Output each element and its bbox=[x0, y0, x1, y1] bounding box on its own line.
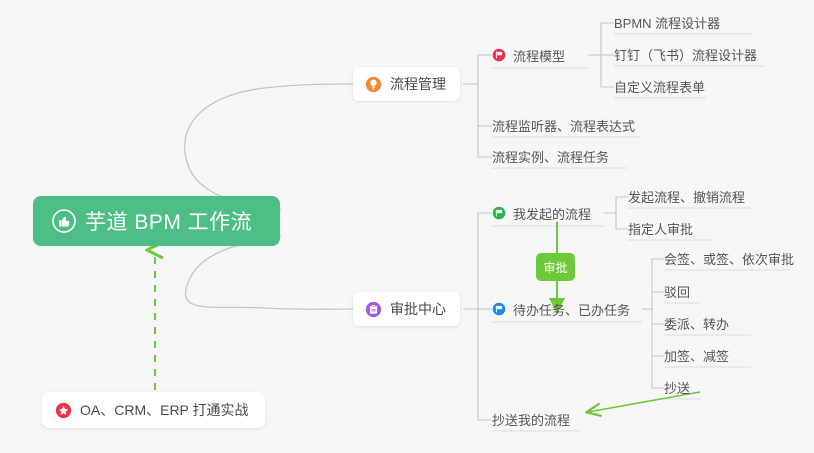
leaf-custom-form[interactable]: 自定义流程表单 bbox=[614, 76, 705, 97]
branch-node-process-management[interactable]: 流程管理 bbox=[353, 67, 460, 101]
connector-pm-to-listener bbox=[478, 84, 492, 126]
node-process-listener[interactable]: 流程监听器、流程表达式 bbox=[492, 115, 635, 136]
connector-todo-to-signs bbox=[642, 259, 664, 309]
connector-todo-to-cc bbox=[652, 356, 664, 388]
lightbulb-icon bbox=[365, 76, 382, 93]
leaf-reject[interactable]: 驳回 bbox=[664, 281, 690, 302]
star-icon bbox=[55, 402, 72, 419]
leaf-label-reject: 驳回 bbox=[664, 282, 690, 301]
leaf-label-add-remove-sign: 加签、减签 bbox=[664, 346, 729, 365]
node-cc-my-processes[interactable]: 抄送我的流程 bbox=[492, 409, 570, 430]
connector-todo-to-addsign bbox=[652, 324, 664, 356]
node-todo-done-tasks[interactable]: 待办任务、已办任务 bbox=[492, 298, 630, 323]
label-process-model: 流程模型 bbox=[513, 46, 565, 65]
connector-mine-to-start bbox=[604, 197, 628, 213]
branch-label-approval-center: 审批中心 bbox=[390, 299, 446, 319]
flag-icon bbox=[492, 206, 506, 220]
flag-icon bbox=[492, 48, 506, 62]
label-process-listener: 流程监听器、流程表达式 bbox=[492, 116, 635, 135]
label-todo-done-tasks: 待办任务、已办任务 bbox=[513, 300, 630, 319]
connector-ac-to-mine bbox=[463, 213, 492, 309]
leaf-carbon-copy[interactable]: 抄送 bbox=[664, 377, 690, 398]
node-my-processes[interactable]: 我发起的流程 bbox=[492, 202, 591, 227]
connector-todo-to-reject bbox=[652, 292, 664, 309]
leaf-label-assign-approver: 指定人审批 bbox=[628, 219, 693, 238]
connector-ac-to-cc bbox=[478, 309, 492, 420]
label-cc-my-processes: 抄送我的流程 bbox=[492, 410, 570, 429]
branch-node-approval-center[interactable]: 审批中心 bbox=[353, 292, 460, 326]
connector-mine-to-assign bbox=[616, 213, 628, 229]
leaf-label-dingtalk-designer: 钉钉（飞书）流程设计器 bbox=[614, 45, 757, 64]
callout-node-integration[interactable]: OA、CRM、ERP 打通实战 bbox=[42, 392, 265, 428]
approval-badge[interactable]: 审批 bbox=[536, 253, 575, 281]
label-process-instance: 流程实例、流程任务 bbox=[492, 147, 609, 166]
callout-label-integration: OA、CRM、ERP 打通实战 bbox=[80, 400, 249, 420]
branch-label-process-management: 流程管理 bbox=[390, 74, 446, 94]
approval-badge-label: 审批 bbox=[543, 259, 567, 276]
leaf-assign-approver[interactable]: 指定人审批 bbox=[628, 218, 693, 239]
leaf-start-cancel-process[interactable]: 发起流程、撤销流程 bbox=[628, 186, 745, 207]
connector-root-to-process-management bbox=[185, 84, 353, 210]
connector-pm-to-children bbox=[463, 55, 492, 84]
connector-todo-to-delegate bbox=[652, 309, 664, 324]
leaf-label-sign-modes: 会签、或签、依次审批 bbox=[664, 249, 794, 268]
leaf-sign-modes[interactable]: 会签、或签、依次审批 bbox=[664, 248, 794, 269]
node-process-instance[interactable]: 流程实例、流程任务 bbox=[492, 146, 609, 167]
clipboard-icon bbox=[365, 301, 382, 318]
leaf-delegate-transfer[interactable]: 委派、转办 bbox=[664, 313, 729, 334]
root-label: 芋道 BPM 工作流 bbox=[85, 206, 252, 236]
leaf-label-start-cancel-process: 发起流程、撤销流程 bbox=[628, 187, 745, 206]
leaf-dingtalk-designer[interactable]: 钉钉（飞书）流程设计器 bbox=[614, 44, 757, 65]
mindmap-canvas: 芋道 BPM 工作流 流程管理 流程模型 BPMN 流程设计器 钉钉（飞书 bbox=[0, 0, 814, 453]
connector-model-to-form bbox=[601, 55, 614, 87]
root-node[interactable]: 芋道 BPM 工作流 bbox=[33, 196, 280, 246]
leaf-label-custom-form: 自定义流程表单 bbox=[614, 77, 705, 96]
connector-model-to-bpmn bbox=[588, 23, 614, 55]
flag-icon bbox=[492, 302, 506, 316]
leaf-add-remove-sign[interactable]: 加签、减签 bbox=[664, 345, 729, 366]
leaf-bpmn-designer[interactable]: BPMN 流程设计器 bbox=[614, 12, 720, 33]
node-process-model[interactable]: 流程模型 bbox=[492, 44, 565, 69]
leaf-label-delegate-transfer: 委派、转办 bbox=[664, 314, 729, 333]
label-my-processes: 我发起的流程 bbox=[513, 204, 591, 223]
leaf-label-carbon-copy: 抄送 bbox=[664, 378, 690, 397]
leaf-label-bpmn-designer: BPMN 流程设计器 bbox=[614, 13, 720, 32]
thumbs-up-icon bbox=[52, 209, 76, 233]
connector-pm-to-instance bbox=[478, 126, 492, 157]
connector-root-to-approval-center bbox=[185, 236, 353, 309]
